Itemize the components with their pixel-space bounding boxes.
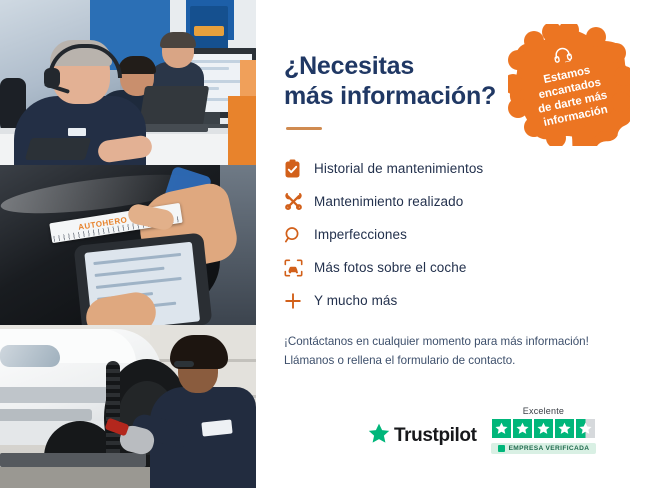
laptop-lid	[139, 86, 209, 126]
feature-item-imperfections: Imperfecciones	[284, 218, 624, 251]
magnifier-icon	[284, 224, 314, 246]
page-title-line-2: más información?	[284, 82, 496, 110]
clipboard-check-icon	[284, 158, 314, 180]
mechanic-wheel-inspection-photo	[0, 325, 256, 488]
badge-content: Estamos encantados de darte más informac…	[497, 13, 642, 158]
contact-line-1: ¡Contáctanos en cualquier momento para m…	[284, 333, 624, 352]
call-center-agents-photo	[0, 0, 256, 165]
star-3	[534, 419, 553, 438]
star-4	[555, 419, 574, 438]
trustpilot-rating: Excelente EMPRESA VERIFICADA	[491, 406, 597, 454]
feature-label: Y mucho más	[314, 293, 397, 308]
rating-label: Excelente	[523, 406, 564, 416]
verified-label: EMPRESA VERIFICADA	[509, 445, 590, 452]
star-5-half	[576, 419, 595, 438]
support-badge: Estamos encantados de darte más informac…	[508, 24, 630, 146]
trustpilot-star-icon	[368, 423, 390, 449]
star-2	[513, 419, 532, 438]
star-1	[492, 419, 511, 438]
photo-column: AUTOHERO	[0, 0, 256, 488]
feature-list: Historial de mantenimientos M	[284, 152, 624, 317]
headset-icon	[552, 45, 574, 69]
mechanic	[150, 335, 256, 488]
trustpilot-widget[interactable]: Trustpilot Excelente EMPRESA VERIFICADA	[368, 406, 596, 454]
orange-object-back	[240, 60, 256, 100]
car-headlight	[0, 345, 60, 367]
car-grille-upper	[0, 387, 116, 403]
plus-icon	[284, 290, 314, 312]
car-grille-lower	[0, 409, 92, 421]
agent-name-badge	[68, 128, 86, 136]
feature-item-maintenance-history: Historial de mantenimientos	[284, 152, 624, 185]
car-inspection-ruler-photo: AUTOHERO	[0, 165, 256, 325]
verified-check-icon	[498, 445, 505, 452]
feature-item-much-more: Y mucho más	[284, 284, 624, 317]
verified-company-badge: EMPRESA VERIFICADA	[491, 443, 597, 454]
feature-label: Más fotos sobre el coche	[314, 260, 466, 275]
title-underline	[286, 127, 322, 130]
contact-line-2: Llámanos o rellena el formulario de cont…	[284, 352, 624, 371]
trustpilot-logo[interactable]: Trustpilot	[368, 423, 477, 449]
trustpilot-wordmark: Trustpilot	[394, 425, 477, 447]
information-promo-card: AUTOHERO	[0, 0, 650, 488]
rating-stars	[492, 419, 595, 438]
car-lift-arm	[0, 453, 146, 467]
desk-tablet	[25, 138, 91, 160]
feature-item-maintenance-done: Mantenimiento realizado	[284, 185, 624, 218]
feature-label: Imperfecciones	[314, 227, 407, 242]
background-person-hair	[160, 32, 196, 48]
feature-item-more-photos: Más fotos sobre el coche	[284, 251, 624, 284]
car-scan-icon	[284, 257, 314, 279]
page-title-line-1: ¿Necesitas	[284, 52, 414, 80]
feature-label: Historial de mantenimientos	[314, 161, 483, 176]
safety-glasses	[174, 361, 194, 367]
tools-icon	[284, 191, 314, 213]
feature-label: Mantenimiento realizado	[314, 194, 463, 209]
orange-object	[228, 96, 256, 165]
content-panel: ¿Necesitas más información? Historial de…	[256, 0, 650, 488]
contact-text: ¡Contáctanos en cualquier momento para m…	[284, 333, 624, 371]
